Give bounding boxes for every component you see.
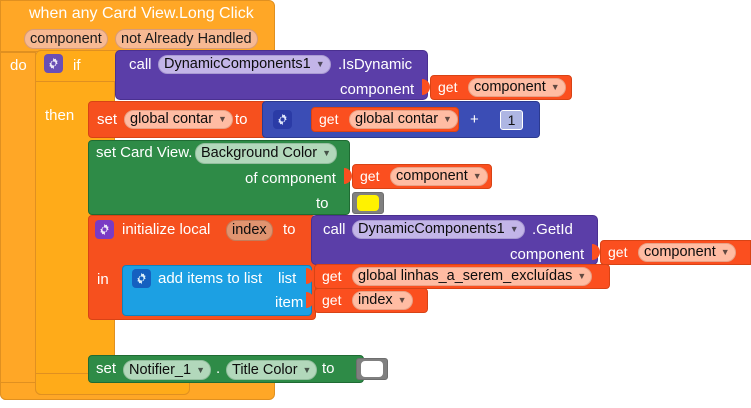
get-index-variable: index <box>358 291 393 310</box>
get-global-contar-dropdown[interactable]: global contar ▼ <box>349 110 458 129</box>
add-items-gear-icon[interactable] <box>132 269 151 288</box>
do-label: do <box>10 58 27 73</box>
set-notifier-to-label: to <box>322 361 335 376</box>
set-cardview-property-dropdown[interactable]: Background Color ▼ <box>195 143 337 164</box>
get-component-1-dropdown[interactable]: component ▼ <box>468 78 566 97</box>
get-component-2-variable: component <box>396 167 468 186</box>
chevron-down-icon: ▼ <box>577 272 586 281</box>
chevron-down-icon: ▼ <box>398 296 407 305</box>
init-local-to-label: to <box>283 222 296 237</box>
event-param-not-already-handled-label: not Already Handled <box>121 30 252 49</box>
chevron-down-icon: ▼ <box>443 115 452 124</box>
get-global-contar-variable: global contar <box>355 110 438 129</box>
chevron-down-icon: ▼ <box>551 83 560 92</box>
get-component-2-get-label: get <box>360 169 379 184</box>
set-cardview-of-component-label: of component <box>245 171 336 186</box>
color-swatch-white[interactable] <box>356 358 388 380</box>
call-isdynamic-arg-socket[interactable] <box>422 79 430 95</box>
set-global-contar-set-label: set <box>97 112 117 127</box>
blocks-workspace[interactable]: when any Card View.Long Click component … <box>0 0 751 408</box>
call-isdynamic-component-name: DynamicComponents1 <box>164 55 311 74</box>
color-swatch-yellow[interactable] <box>352 192 384 214</box>
get-component-2-dropdown[interactable]: component ▼ <box>390 167 488 186</box>
math-number-1[interactable]: 1 <box>500 110 523 130</box>
call-isdynamic-call-label: call <box>129 57 152 72</box>
get-index-dropdown[interactable]: index ▼ <box>352 291 413 310</box>
set-notifier-component-dropdown[interactable]: Notifier_1 ▼ <box>123 360 211 380</box>
call-getid-method: .GetId <box>532 222 573 237</box>
add-items-item-socket[interactable] <box>306 292 314 308</box>
add-items-list-label: list <box>278 271 296 286</box>
event-title: when any Card View.Long Click <box>29 6 254 21</box>
call-isdynamic-method: .IsDynamic <box>338 57 412 72</box>
init-local-gear-icon[interactable] <box>95 220 114 239</box>
call-getid-arg-label: component <box>510 247 584 262</box>
get-component-3-variable: component <box>644 243 716 262</box>
chevron-down-icon: ▼ <box>473 172 482 181</box>
add-items-list-socket[interactable] <box>306 268 314 284</box>
call-getid-component-dropdown[interactable]: DynamicComponents1 ▼ <box>352 220 525 239</box>
then-label: then <box>45 108 74 123</box>
set-notifier-set-label: set <box>96 361 116 376</box>
set-notifier-component: Notifier_1 <box>129 361 191 380</box>
get-component-3-get-label: get <box>608 245 627 260</box>
set-cardview-property: Background Color <box>201 144 317 163</box>
chevron-down-icon: ▼ <box>218 115 227 124</box>
call-getid-call-label: call <box>323 222 346 237</box>
chevron-down-icon: ▼ <box>510 225 519 234</box>
event-block-body[interactable] <box>0 52 36 400</box>
get-component-1-variable: component <box>474 78 546 97</box>
call-getid-arg-socket[interactable] <box>592 244 600 260</box>
add-items-item-label: item <box>275 295 303 310</box>
get-global-contar-get-label: get <box>319 112 338 127</box>
set-global-contar-to-label: to <box>235 112 248 127</box>
init-local-variable: index <box>232 221 267 240</box>
init-local-label: initialize local <box>122 222 210 237</box>
chevron-down-icon: ▼ <box>316 60 325 69</box>
set-cardview-of-component-socket[interactable] <box>344 168 352 184</box>
event-param-component-label: component <box>30 30 102 49</box>
chevron-down-icon: ▼ <box>303 366 312 375</box>
if-gear-icon[interactable] <box>44 54 63 73</box>
color-swatch-white-fill <box>361 361 383 377</box>
call-getid-component-name: DynamicComponents1 <box>358 220 505 239</box>
get-global-linhas-get-label: get <box>322 269 341 284</box>
set-notifier-dot: . <box>216 361 220 376</box>
get-component-3-dropdown[interactable]: component ▼ <box>638 243 736 262</box>
chevron-down-icon: ▼ <box>721 248 730 257</box>
init-local-in-label: in <box>97 272 109 287</box>
call-isdynamic-component-dropdown[interactable]: DynamicComponents1 ▼ <box>158 55 331 74</box>
init-local-variable-field[interactable]: index <box>226 220 273 241</box>
get-index-get-label: get <box>322 293 341 308</box>
set-notifier-property-dropdown[interactable]: Title Color ▼ <box>226 360 317 380</box>
set-cardview-to-label: to <box>316 196 329 211</box>
get-global-linhas-dropdown[interactable]: global linhas_a_serem_excluídas ▼ <box>352 267 592 286</box>
chevron-down-icon: ▼ <box>196 366 205 375</box>
set-global-contar-variable: global contar <box>130 110 213 129</box>
set-cardview-set-label: set Card View. <box>96 145 192 160</box>
get-component-1-get-label: get <box>438 80 457 95</box>
call-isdynamic-arg-label: component <box>340 82 414 97</box>
chevron-down-icon: ▼ <box>322 149 331 158</box>
if-label: if <box>73 58 81 73</box>
math-operator-plus: + <box>470 112 479 127</box>
get-global-linhas-variable: global linhas_a_serem_excluídas <box>358 267 572 286</box>
event-param-not-already-handled: not Already Handled <box>115 29 258 49</box>
add-items-title: add items to list <box>158 271 262 286</box>
event-param-component: component <box>24 29 108 49</box>
set-notifier-property: Title Color <box>232 361 298 380</box>
set-global-contar-dropdown[interactable]: global contar ▼ <box>124 110 233 129</box>
color-swatch-yellow-fill <box>357 195 379 211</box>
math-add-gear-icon[interactable] <box>273 110 292 129</box>
